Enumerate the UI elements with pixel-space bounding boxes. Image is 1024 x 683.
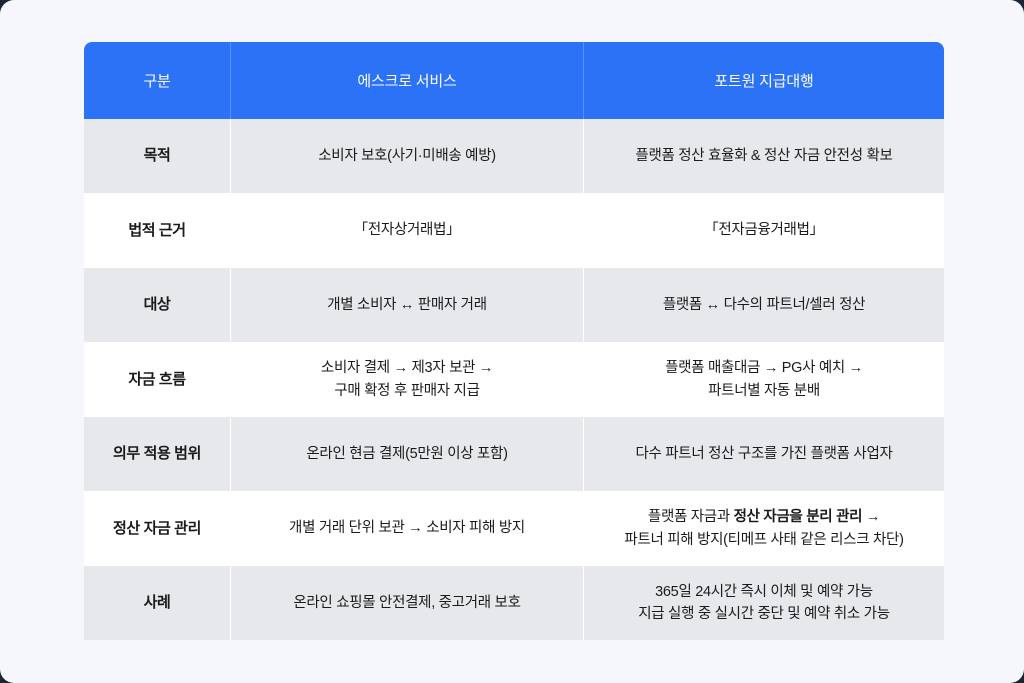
cell-portone-target: 플랫폼 ↔ 다수의 파트너/셀러 정산 xyxy=(584,268,944,342)
cell-escrow-target: 개별 소비자 ↔ 판매자 거래 xyxy=(231,268,584,342)
cell-escrow-use-case: 온라인 쇼핑몰 안전결제, 중고거래 보호 xyxy=(231,566,584,640)
comparison-table-container: 구분 에스크로 서비스 포트원 지급대행 목적 소비자 보호(사기·미배송 예방… xyxy=(84,42,944,640)
table-row: 사례 온라인 쇼핑몰 안전결제, 중고거래 보호 365일 24시간 즉시 이체… xyxy=(84,566,944,640)
cell-line: 플랫폼 매출대금 → PG사 예치 → xyxy=(596,357,932,379)
cell-escrow-purpose: 소비자 보호(사기·미배송 예방) xyxy=(231,119,584,193)
cell-line: 플랫폼 자금과 정산 자금을 분리 관리 → xyxy=(596,506,932,528)
cell-line: 소비자 결제 → 제3자 보관 → xyxy=(243,357,571,379)
cell-portone-use-case: 365일 24시간 즉시 이체 및 예약 가능 지급 실행 중 실시간 중단 및… xyxy=(584,566,944,640)
cell-escrow-settlement-fund-mgmt: 개별 거래 단위 보관 → 소비자 피해 방지 xyxy=(231,491,584,566)
cell-line: 지급 실행 중 실시간 중단 및 예약 취소 가능 xyxy=(596,603,932,625)
row-label-fund-flow: 자금 흐름 xyxy=(84,342,231,417)
cell-portone-settlement-fund-mgmt: 플랫폼 자금과 정산 자금을 분리 관리 → 파트너 피해 방지(티메프 사태 … xyxy=(584,491,944,566)
table-row: 자금 흐름 소비자 결제 → 제3자 보관 → 구매 확정 후 판매자 지급 플… xyxy=(84,342,944,417)
comparison-table: 구분 에스크로 서비스 포트원 지급대행 목적 소비자 보호(사기·미배송 예방… xyxy=(84,42,944,640)
header-row: 구분 에스크로 서비스 포트원 지급대행 xyxy=(84,42,944,119)
cell-portone-legal-basis: 「전자금융거래법」 xyxy=(584,193,944,268)
cell-text-post: → xyxy=(862,509,880,525)
row-label-obligation-scope: 의무 적용 범위 xyxy=(84,417,231,491)
cell-line: 파트너별 자동 분배 xyxy=(596,380,932,402)
cell-text-emphasis: 정산 자금을 분리 관리 xyxy=(734,509,863,525)
cell-line: 파트너 피해 방지(티메프 사태 같은 리스크 차단) xyxy=(596,529,932,551)
row-label-legal-basis: 법적 근거 xyxy=(84,193,231,268)
table-body: 목적 소비자 보호(사기·미배송 예방) 플랫폼 정산 효율화 & 정산 자금 … xyxy=(84,119,944,640)
cell-escrow-legal-basis: 「전자상거래법」 xyxy=(231,193,584,268)
cell-text-pre: 플랫폼 자금과 xyxy=(648,509,734,525)
table-row: 의무 적용 범위 온라인 현금 결제(5만원 이상 포함) 다수 파트너 정산 … xyxy=(84,417,944,491)
row-label-settlement-fund-mgmt: 정산 자금 관리 xyxy=(84,491,231,566)
page-canvas: 구분 에스크로 서비스 포트원 지급대행 목적 소비자 보호(사기·미배송 예방… xyxy=(0,0,1024,683)
header-cell-category: 구분 xyxy=(84,42,231,119)
cell-escrow-obligation-scope: 온라인 현금 결제(5만원 이상 포함) xyxy=(231,417,584,491)
table-row: 목적 소비자 보호(사기·미배송 예방) 플랫폼 정산 효율화 & 정산 자금 … xyxy=(84,119,944,193)
row-label-use-case: 사례 xyxy=(84,566,231,640)
table-header: 구분 에스크로 서비스 포트원 지급대행 xyxy=(84,42,944,119)
cell-line: 365일 24시간 즉시 이체 및 예약 가능 xyxy=(596,581,932,603)
row-label-purpose: 목적 xyxy=(84,119,231,193)
header-cell-portone-payout: 포트원 지급대행 xyxy=(584,42,944,119)
row-label-target: 대상 xyxy=(84,268,231,342)
cell-portone-fund-flow: 플랫폼 매출대금 → PG사 예치 → 파트너별 자동 분배 xyxy=(584,342,944,417)
cell-line: 구매 확정 후 판매자 지급 xyxy=(243,380,571,402)
cell-portone-obligation-scope: 다수 파트너 정산 구조를 가진 플랫폼 사업자 xyxy=(584,417,944,491)
table-row: 법적 근거 「전자상거래법」 「전자금융거래법」 xyxy=(84,193,944,268)
header-cell-escrow-service: 에스크로 서비스 xyxy=(231,42,584,119)
table-row: 대상 개별 소비자 ↔ 판매자 거래 플랫폼 ↔ 다수의 파트너/셀러 정산 xyxy=(84,268,944,342)
table-row: 정산 자금 관리 개별 거래 단위 보관 → 소비자 피해 방지 플랫폼 자금과… xyxy=(84,491,944,566)
cell-escrow-fund-flow: 소비자 결제 → 제3자 보관 → 구매 확정 후 판매자 지급 xyxy=(231,342,584,417)
cell-portone-purpose: 플랫폼 정산 효율화 & 정산 자금 안전성 확보 xyxy=(584,119,944,193)
